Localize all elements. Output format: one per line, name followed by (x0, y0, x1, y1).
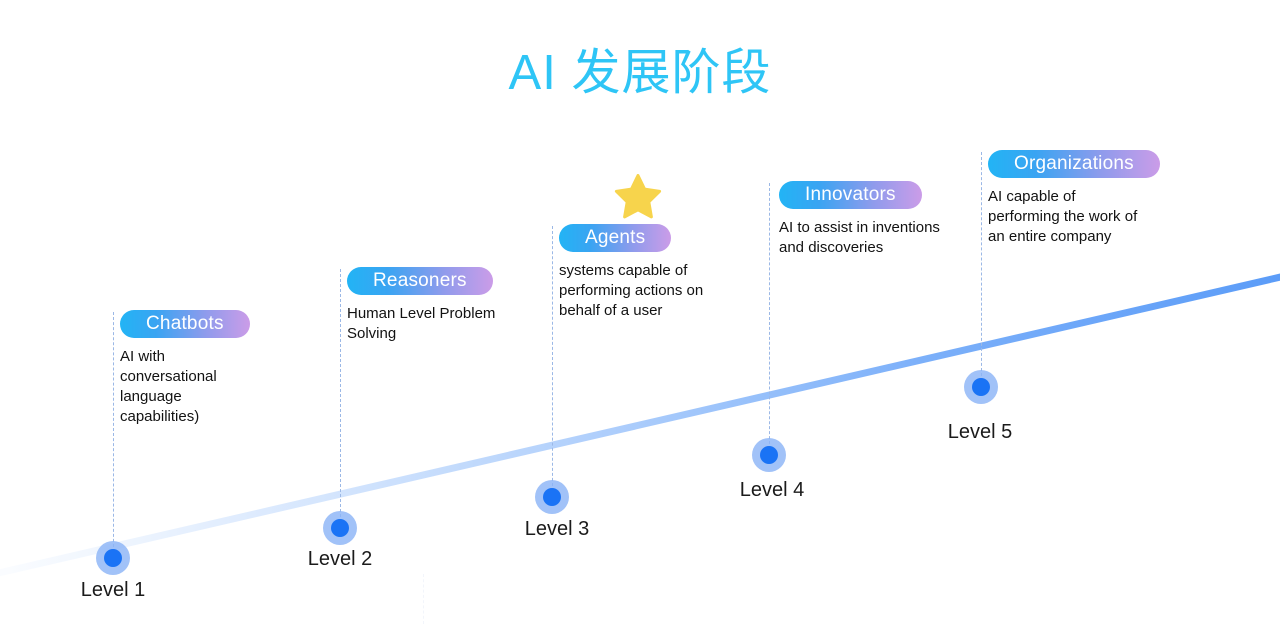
stage-pill-organizations[interactable]: Organizations (988, 150, 1160, 178)
level-label-4: Level 4 (740, 478, 805, 502)
connector-line-level-3 (552, 226, 553, 491)
stage-block-level-4: Innovators AI to assist in inventions an… (779, 181, 940, 258)
milestone-dot-level-4[interactable] (752, 438, 786, 472)
stage-description-agents: systems capable of performing actions on… (559, 261, 703, 321)
stage-description-organizations: AI capable of performing the work of an … (988, 187, 1160, 247)
dot-core (760, 446, 778, 464)
connector-line-level-5 (981, 152, 982, 381)
stage-block-level-2: Reasoners Human Level Problem Solving (347, 267, 495, 344)
stage-description-reasoners: Human Level Problem Solving (347, 304, 495, 344)
dot-core (331, 519, 349, 537)
dot-core (543, 488, 561, 506)
stage-pill-innovators[interactable]: Innovators (779, 181, 922, 209)
stage-block-level-1: Chatbots AI with conversational language… (120, 310, 250, 427)
stage-block-level-3: Agents systems capable of performing act… (559, 224, 703, 321)
stage-description-chatbots: AI with conversational language capabili… (120, 347, 250, 427)
star-icon (614, 174, 662, 220)
stage-block-level-5: Organizations AI capable of performing t… (988, 150, 1160, 247)
page-title: AI 发展阶段 (0, 44, 1280, 102)
level-label-2: Level 2 (308, 547, 373, 571)
milestone-dot-level-2[interactable] (323, 511, 357, 545)
dot-core (972, 378, 990, 396)
stage-pill-reasoners[interactable]: Reasoners (347, 267, 493, 295)
level-label-1: Level 1 (81, 578, 146, 602)
level-label-3: Level 3 (525, 517, 590, 541)
connector-line-level-2 (340, 269, 341, 522)
dot-core (104, 549, 122, 567)
connector-line-level-1 (113, 312, 114, 552)
milestone-dot-level-1[interactable] (96, 541, 130, 575)
stage-pill-agents[interactable]: Agents (559, 224, 671, 252)
milestone-dot-level-5[interactable] (964, 370, 998, 404)
stage-pill-chatbots[interactable]: Chatbots (120, 310, 250, 338)
decorative-guide-line (423, 574, 424, 624)
stage-description-innovators: AI to assist in inventions and discoveri… (779, 218, 940, 258)
infographic-canvas: AI 发展阶段 Chatbots AI with conversational … (0, 0, 1280, 624)
level-label-5: Level 5 (948, 420, 1013, 444)
connector-line-level-4 (769, 183, 770, 449)
milestone-dot-level-3[interactable] (535, 480, 569, 514)
